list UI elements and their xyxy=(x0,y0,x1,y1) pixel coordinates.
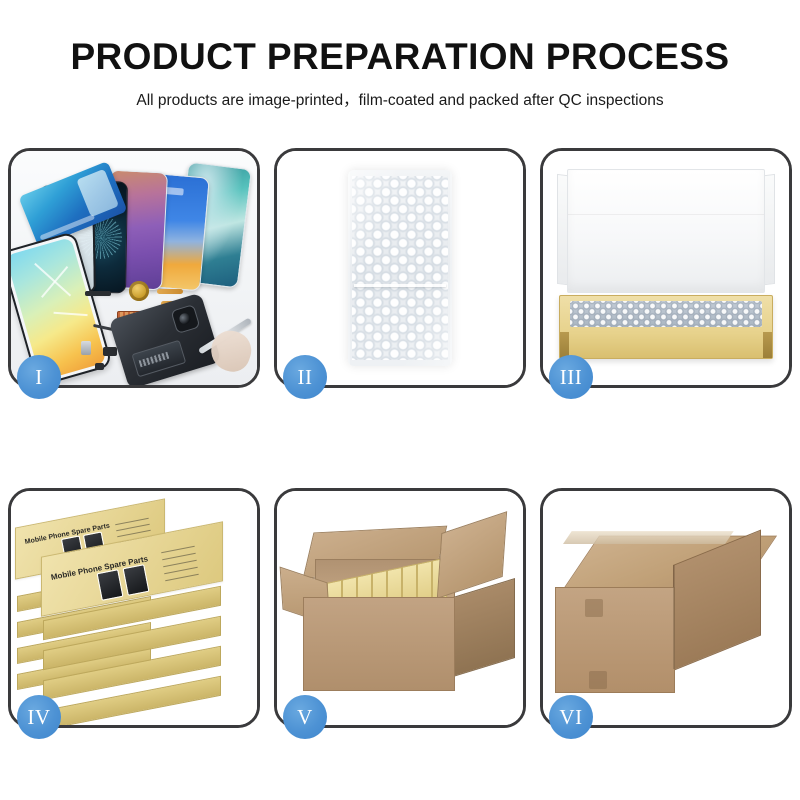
header: PRODUCT PREPARATION PROCESS All products… xyxy=(0,0,800,110)
carton-hand-hole xyxy=(585,599,603,617)
stacked-box xyxy=(43,633,219,651)
box-tray xyxy=(559,295,773,359)
box-stack: Mobile Phone Spare Parts xyxy=(11,491,257,725)
step-badge-1: I xyxy=(17,355,61,399)
camera-module-part xyxy=(170,304,200,334)
step-2-image xyxy=(277,151,523,385)
process-step-3: III xyxy=(540,148,792,388)
box-lid xyxy=(567,169,765,293)
stacked-box xyxy=(43,663,219,681)
step-5-image xyxy=(277,491,523,725)
tray-corner xyxy=(560,332,569,358)
battery-part xyxy=(131,340,186,378)
step-badge-3: III xyxy=(549,355,593,399)
process-step-1: I xyxy=(8,148,260,388)
process-step-6: VI xyxy=(540,488,792,728)
metal-bracket-part xyxy=(81,341,91,355)
process-step-2: II xyxy=(274,148,526,388)
page-title: PRODUCT PREPARATION PROCESS xyxy=(0,0,800,77)
process-step-5: V xyxy=(274,488,526,728)
tray-corner xyxy=(763,332,772,358)
stacked-box xyxy=(43,693,219,711)
packing-tape xyxy=(563,531,734,544)
step-badge-6: VI xyxy=(549,695,593,739)
bubble-wrapped-product xyxy=(348,170,452,366)
process-step-4: Mobile Phone Spare Parts xyxy=(8,488,260,728)
step-6-image xyxy=(543,491,789,725)
step-1-image xyxy=(11,151,257,385)
antenna-bar-part xyxy=(85,291,111,296)
page-subtitle: All products are image-printed，film-coat… xyxy=(0,77,800,110)
carton-front-panel xyxy=(303,597,455,691)
chip-part xyxy=(95,363,104,370)
product-preparation-infographic: PRODUCT PREPARATION PROCESS All products… xyxy=(0,0,800,800)
carton-side-panel xyxy=(453,578,515,677)
open-shipping-carton xyxy=(287,517,517,691)
step-badge-2: II xyxy=(283,355,327,399)
bubble-wrapped-contents xyxy=(570,301,762,327)
speaker-coil-part xyxy=(129,281,149,301)
step-badge-4: IV xyxy=(17,695,61,739)
step-3-image xyxy=(543,151,789,385)
process-step-grid: I II xyxy=(8,148,792,728)
step-badge-5: V xyxy=(283,695,327,739)
flex-cable-part xyxy=(157,289,183,294)
carton-hand-hole xyxy=(589,671,607,689)
step-4-image: Mobile Phone Spare Parts xyxy=(11,491,257,725)
open-inner-box xyxy=(557,169,775,359)
carton-seam xyxy=(673,565,675,669)
wrap-sheen xyxy=(348,170,452,366)
chip-part xyxy=(103,347,117,356)
sealed-shipping-carton xyxy=(555,525,779,685)
carton-front-panel xyxy=(555,587,675,693)
